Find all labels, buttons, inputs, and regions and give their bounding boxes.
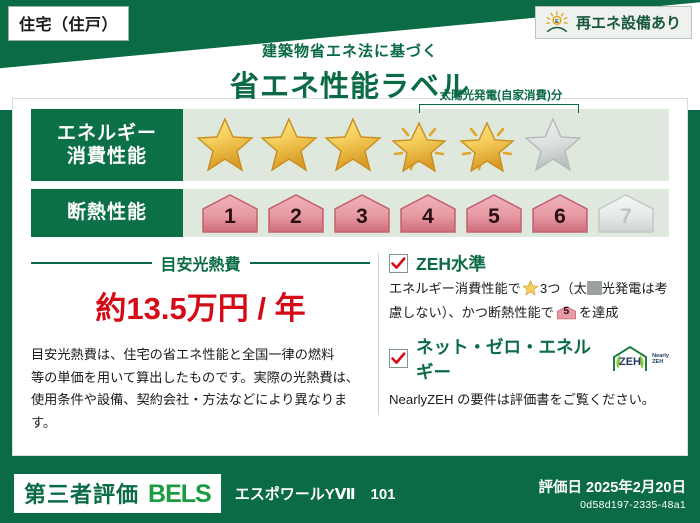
star-filled-solar-4 xyxy=(387,116,451,174)
star-empty-6 xyxy=(523,116,583,174)
net-zero-energy-title: ネット・ゼロ・エネルギー xyxy=(416,334,602,384)
star-filled-3 xyxy=(323,116,383,174)
label-frame: 住宅（住戸） E 再エネ設備あり 建築物省エネ法に基づ xyxy=(0,0,700,523)
renewable-equipment-label: 再エネ設備あり xyxy=(576,12,681,33)
footer-bar: 第三者評価 BELS エスポワールYⅦ 101 評価日 2025年2月20日 0… xyxy=(0,463,700,523)
zeh-standard-item: ZEH水準 エネルギー消費性能で3つ（太光発電は考慮しない）、かつ断熱性能で5を… xyxy=(389,251,669,324)
footer-meta: 評価日 2025年2月20日 0d58d197-2335-48a1 xyxy=(539,476,686,511)
insulation-badge-3-value: 3 xyxy=(356,206,368,234)
zeh-standard-text-c: 光発電 xyxy=(602,281,642,296)
zeh-standard-text-a: エネルギー消費性能で xyxy=(389,281,521,296)
building-name: エスポワールYⅦ 101 xyxy=(235,483,396,504)
energy-performance-row: エネルギー 消費性能 太陽光発電(自家消費)分 xyxy=(31,109,669,181)
insulation-badge-7-value: 7 xyxy=(620,206,632,234)
label-card: エネルギー 消費性能 太陽光発電(自家消費)分 xyxy=(12,98,688,456)
cost-heading-rule-right xyxy=(250,262,371,264)
star-filled-solar-5 xyxy=(455,116,519,174)
zeh-section: ZEH水準 エネルギー消費性能で3つ（太光発電は考慮しない）、かつ断熱性能で5を… xyxy=(389,251,669,417)
cost-heading: 目安光熱費 xyxy=(31,251,370,275)
insulation-badge-1: 1 xyxy=(199,192,261,234)
energy-performance-label: エネルギー 消費性能 xyxy=(31,109,183,181)
cost-note-line1: 目安光熱費は、住宅の省エネ性能と全国一律の燃料 xyxy=(31,344,370,367)
cost-amount: 約13.5万円 / 年 xyxy=(31,283,370,328)
cost-note-line2: 等の単価を用いて算出したものです。実際の光熱費は、 xyxy=(31,367,370,390)
bels-japanese-label: 第三者評価 xyxy=(24,477,139,509)
solar-bracket-line xyxy=(419,104,579,113)
insulation-badge-1-value: 1 xyxy=(224,206,236,234)
inline-star-icon xyxy=(522,280,539,303)
cost-note: 目安光熱費は、住宅の省エネ性能と全国一律の燃料 等の単価を用いて算出したものです… xyxy=(31,344,370,435)
insulation-badge-2: 2 xyxy=(265,192,327,234)
title-block: 建築物省エネ法に基づく 省エネ性能ラベル xyxy=(0,40,700,105)
insulation-performance-label-text: 断熱性能 xyxy=(67,201,147,224)
zeh-standard-text-e: を達成 xyxy=(579,305,619,320)
star-filled-2 xyxy=(259,116,319,174)
evaluation-date: 評価日 2025年2月20日 xyxy=(539,476,686,497)
svg-text:ZEH: ZEH xyxy=(619,356,641,368)
zeh-standard-body: エネルギー消費性能で3つ（太光発電は考慮しない）、かつ断熱性能で5を達成 xyxy=(389,279,669,324)
cost-heading-rule-left xyxy=(31,262,152,264)
zeh-standard-text-b: 3つ（太 xyxy=(540,281,587,296)
title-subtitle: 建築物省エネ法に基づく xyxy=(0,40,700,61)
bottom-section: 目安光熱費 約13.5万円 / 年 目安光熱費は、住宅の省エネ性能と全国一律の燃… xyxy=(31,251,669,417)
insulation-badge-4-value: 4 xyxy=(422,206,434,234)
bels-badge: 第三者評価 BELS xyxy=(14,474,221,513)
insulation-badge-5-value: 5 xyxy=(488,206,500,234)
insulation-badge-2-value: 2 xyxy=(290,206,302,234)
zeh-standard-title: ZEH水準 xyxy=(416,251,486,276)
insulation-badge-3: 3 xyxy=(331,192,393,234)
energy-performance-label-line1: エネルギー xyxy=(57,122,157,145)
net-zero-energy-header: ネット・ゼロ・エネルギー ZEH NearlyZEH xyxy=(389,334,669,384)
insulation-performance-label: 断熱性能 xyxy=(31,189,183,237)
inline-insulation-badge-icon: 5 xyxy=(556,304,577,321)
house-type-label: 住宅（住戸） xyxy=(19,17,118,34)
cost-note-line3: 使用条件や設備、契約会社・方法などにより異なります。 xyxy=(31,389,370,434)
inline-insulation-badge-value: 5 xyxy=(556,303,577,320)
house-type-tag: 住宅（住戸） xyxy=(8,6,129,41)
insulation-performance-row: 断熱性能 1 2 xyxy=(31,189,669,237)
insulation-badge-6: 6 xyxy=(529,192,591,234)
redacted-character xyxy=(587,281,602,295)
evaluation-id: 0d58d197-2335-48a1 xyxy=(539,499,686,511)
insulation-badge-5: 5 xyxy=(463,192,525,234)
cost-section: 目安光熱費 約13.5万円 / 年 目安光熱費は、住宅の省エネ性能と全国一律の燃… xyxy=(31,251,376,417)
insulation-badge-7: 7 xyxy=(595,192,657,234)
zeh-logo-sub: NearlyZEH xyxy=(652,353,669,365)
bels-logo-text: BELS xyxy=(148,480,211,509)
energy-performance-stars: 太陽光発電(自家消費)分 xyxy=(183,109,669,181)
renewable-equipment-tag: E 再エネ設備あり xyxy=(535,6,692,39)
cost-heading-text: 目安光熱費 xyxy=(161,251,241,275)
star-filled-1 xyxy=(195,116,255,174)
section-divider xyxy=(378,253,379,415)
sun-solar-icon: E xyxy=(544,11,570,33)
insulation-badge-6-value: 6 xyxy=(554,206,566,234)
svg-text:E: E xyxy=(555,19,559,25)
title-main: 省エネ性能ラベル xyxy=(0,63,700,105)
energy-performance-label-line2: 消費性能 xyxy=(67,145,147,168)
zeh-standard-header: ZEH水準 xyxy=(389,251,669,276)
checkbox-checked-icon xyxy=(389,254,408,273)
net-zero-energy-item: ネット・ゼロ・エネルギー ZEH NearlyZEH NearlyZEH の要件… xyxy=(389,334,669,411)
checkbox-checked-icon-2 xyxy=(389,349,408,368)
insulation-performance-badges: 1 2 3 4 xyxy=(183,189,669,237)
insulation-badge-4: 4 xyxy=(397,192,459,234)
zeh-house-logo: ZEH NearlyZEH xyxy=(610,345,669,373)
net-zero-energy-body: NearlyZEH の要件は評価書をご覧ください。 xyxy=(389,390,669,411)
